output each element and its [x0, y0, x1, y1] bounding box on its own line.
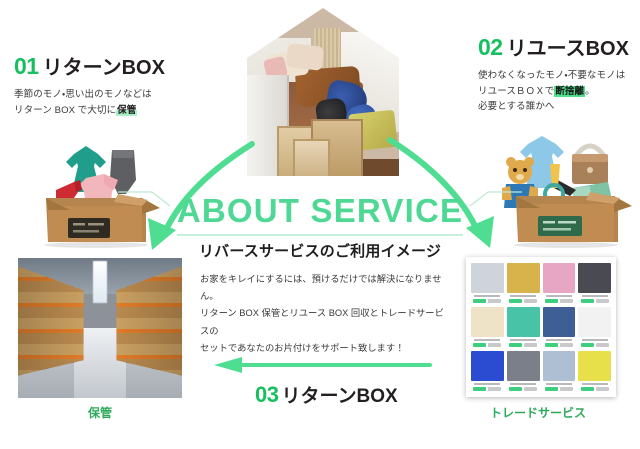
product-badges — [471, 343, 504, 347]
arrow-left-straight-icon — [212, 357, 432, 373]
step-01-body-line-2: リターン BOX で大切に保管 — [14, 103, 165, 119]
product-thumbnail — [507, 307, 540, 337]
product-badges — [471, 387, 504, 391]
product-grid — [471, 263, 611, 391]
product-badges — [471, 299, 504, 303]
step-02-line2-suffix: 。 — [585, 86, 595, 97]
product-badge — [488, 343, 501, 347]
product-title-line — [582, 339, 608, 341]
product-thumbnail — [578, 307, 611, 337]
step-03-title: リターンBOX — [281, 386, 397, 407]
product-badges — [578, 387, 611, 391]
product-badge — [488, 387, 501, 391]
product-title-line — [510, 339, 536, 341]
step-02-heading: 02リユースBOX — [478, 36, 629, 59]
product-badge — [509, 299, 522, 303]
step-02-body: 使わなくなったモノ・不要なモノは リユースＢＯＸで断捨離。 必要とする誰かへ — [478, 68, 629, 115]
step-01-body-line-1: 季節のモノ・思い出のモノなどは — [14, 87, 165, 103]
product-cell[interactable] — [471, 263, 504, 303]
product-badge — [581, 343, 594, 347]
product-badges — [543, 299, 576, 303]
product-cell[interactable] — [543, 351, 576, 391]
step-02-body-line-1: 使わなくなったモノ・不要なモノは — [478, 68, 629, 84]
product-badges — [507, 299, 540, 303]
product-cell[interactable] — [507, 263, 540, 303]
product-title-line — [474, 339, 500, 341]
step-02-body-line-2: リユースＢＯＸで断捨離。 — [478, 84, 629, 100]
center-description: お家をキレイにするには、預けるだけでは解決になりません。 リターン BOX 保管… — [200, 271, 450, 357]
caption-storage: 保管 — [88, 404, 112, 421]
product-cell[interactable] — [507, 351, 540, 391]
center-body-line-1: お家をキレイにするには、預けるだけでは解決になりません。 — [200, 271, 450, 305]
trade-service-screenshot — [466, 257, 616, 397]
step-03-heading: 03リターンBOX — [255, 381, 398, 408]
product-thumbnail — [507, 263, 540, 293]
product-badge — [509, 387, 522, 391]
box-label-plaque — [68, 218, 110, 238]
product-title-line — [546, 295, 572, 297]
product-badges — [543, 343, 576, 347]
product-title-line — [582, 295, 608, 297]
product-cell[interactable] — [578, 307, 611, 347]
step-01-heading: 01リターンBOX — [14, 55, 165, 78]
product-thumbnail — [543, 263, 576, 293]
product-thumbnail — [471, 263, 504, 293]
product-thumbnail — [471, 351, 504, 381]
product-badge — [560, 299, 573, 303]
product-badge — [560, 387, 573, 391]
product-thumbnail — [471, 307, 504, 337]
product-badge — [545, 299, 558, 303]
product-cell[interactable] — [507, 307, 540, 347]
product-badge — [545, 387, 558, 391]
product-title-line — [474, 383, 500, 385]
product-badge — [488, 299, 501, 303]
box-label-plaque — [538, 216, 582, 236]
product-cell[interactable] — [578, 263, 611, 303]
product-badge — [473, 343, 486, 347]
product-badge — [596, 299, 609, 303]
product-badge — [509, 343, 522, 347]
product-badge — [473, 299, 486, 303]
product-badge — [596, 343, 609, 347]
title-underline — [177, 234, 463, 236]
product-badge — [524, 299, 537, 303]
step-01-line2-prefix: リターン BOX で大切に — [14, 105, 116, 116]
product-badge — [581, 299, 594, 303]
step-01-title: リターンBOX — [43, 57, 165, 79]
product-thumbnail — [543, 351, 576, 381]
about-service-title-block: ABOUT SERVICE リバースサービスのご利用イメージ — [177, 194, 463, 261]
product-badge — [596, 387, 609, 391]
step-01-body: 季節のモノ・思い出のモノなどは リターン BOX で大切に保管 — [14, 87, 165, 118]
step-02-number: 02 — [478, 34, 503, 60]
page-title: ABOUT SERVICE — [177, 194, 463, 227]
product-title-line — [546, 339, 572, 341]
product-thumbnail — [507, 351, 540, 381]
product-title-line — [546, 383, 572, 385]
product-title-line — [582, 383, 608, 385]
step-03-number: 03 — [255, 382, 278, 407]
product-badges — [543, 387, 576, 391]
product-badges — [578, 343, 611, 347]
product-cell[interactable] — [471, 351, 504, 391]
step-02-highlight: 断捨離 — [554, 86, 585, 97]
product-badge — [473, 387, 486, 391]
product-badges — [578, 299, 611, 303]
product-title-line — [510, 383, 536, 385]
product-badge — [524, 387, 537, 391]
step-02-block: 02リユースBOX 使わなくなったモノ・不要なモノは リユースＢＯＸで断捨離。 … — [478, 36, 629, 115]
product-thumbnail — [543, 307, 576, 337]
step-01-highlight: 保管 — [116, 105, 137, 116]
product-badges — [507, 387, 540, 391]
product-thumbnail — [578, 351, 611, 381]
page-subtitle: リバースサービスのご利用イメージ — [177, 240, 463, 261]
step-01-block: 01リターンBOX 季節のモノ・思い出のモノなどは リターン BOX で大切に保… — [14, 55, 165, 118]
product-badge — [524, 343, 537, 347]
product-cell[interactable] — [471, 307, 504, 347]
product-cell[interactable] — [578, 351, 611, 391]
cluttered-room-house-photo — [247, 8, 399, 176]
product-badge — [545, 343, 558, 347]
step-02-body-line-3: 必要とする誰かへ — [478, 99, 629, 115]
product-title-line — [474, 295, 500, 297]
product-cell[interactable] — [543, 263, 576, 303]
center-body-line-2: リターン BOX 保管とリユース BOX 回収とトレードサービスの — [200, 305, 450, 339]
product-badges — [507, 343, 540, 347]
product-title-line — [510, 295, 536, 297]
caption-trade: トレードサービス — [490, 404, 586, 421]
step-02-line2-prefix: リユースＢＯＸで — [478, 86, 554, 97]
warehouse-storage-photo — [18, 258, 182, 398]
step-01-number: 01 — [14, 53, 39, 79]
product-badge — [560, 343, 573, 347]
step-02-title: リユースBOX — [507, 38, 629, 60]
infographic-canvas: 01リターンBOX 季節のモノ・思い出のモノなどは リターン BOX で大切に保… — [0, 0, 640, 449]
product-cell[interactable] — [543, 307, 576, 347]
center-body-line-3: セットであなたのお片付けをサポート致します！ — [200, 340, 450, 357]
product-thumbnail — [578, 263, 611, 293]
product-badge — [581, 387, 594, 391]
